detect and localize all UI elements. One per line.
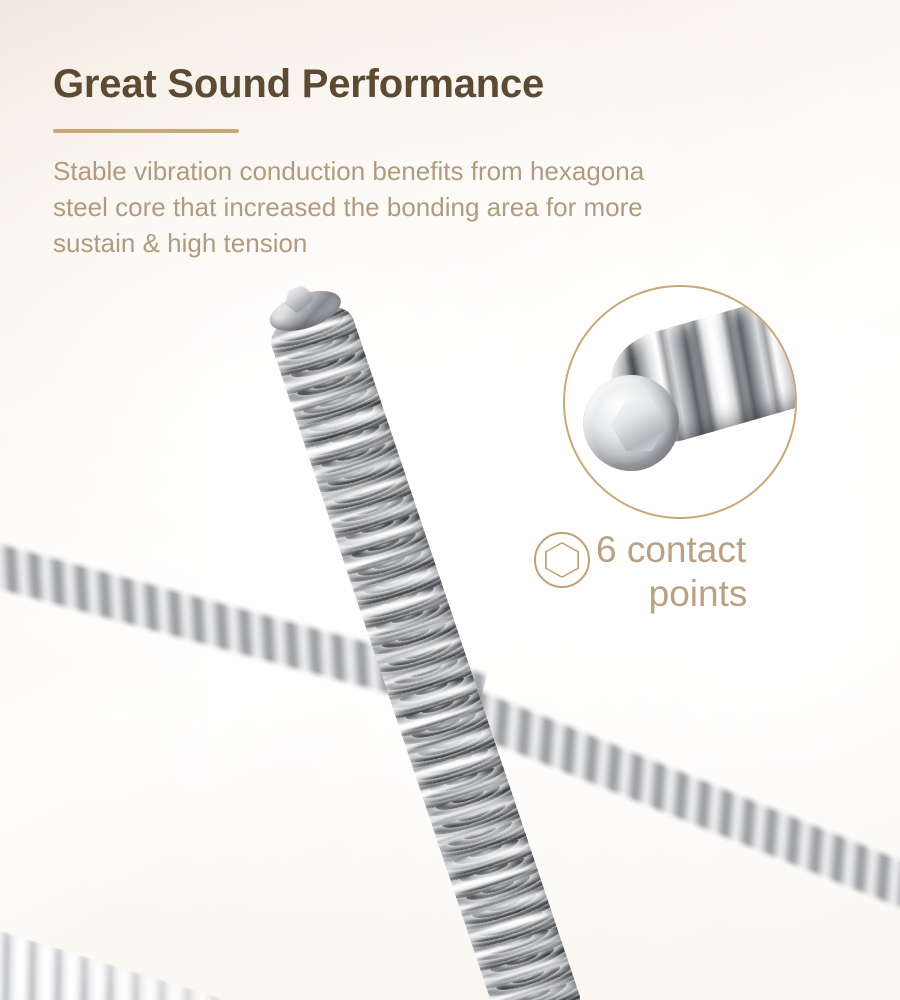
subcopy-block: Stable vibration conduction benefits fro…	[53, 153, 783, 261]
marketing-banner: Great Sound Performance Stable vibration…	[0, 0, 900, 1000]
contact-points-label: 6 contact points	[596, 528, 836, 616]
hexagon-in-circle-icon	[534, 532, 590, 588]
contact-points-line-1: 6 contact	[596, 528, 836, 572]
subcopy-line-1: Stable vibration conduction benefits fro…	[53, 153, 783, 189]
contact-points-line-2: points	[596, 572, 836, 616]
background-string-bottom-left	[0, 915, 292, 1000]
subcopy-line-3: sustain & high tension	[53, 225, 783, 261]
title-accent-rule	[53, 129, 239, 133]
page-title: Great Sound Performance	[53, 62, 544, 107]
zoom-callout-circle	[563, 285, 797, 519]
icon-circle-ring	[534, 532, 590, 588]
subcopy-line-2: steel core that increased the bonding ar…	[53, 189, 783, 225]
